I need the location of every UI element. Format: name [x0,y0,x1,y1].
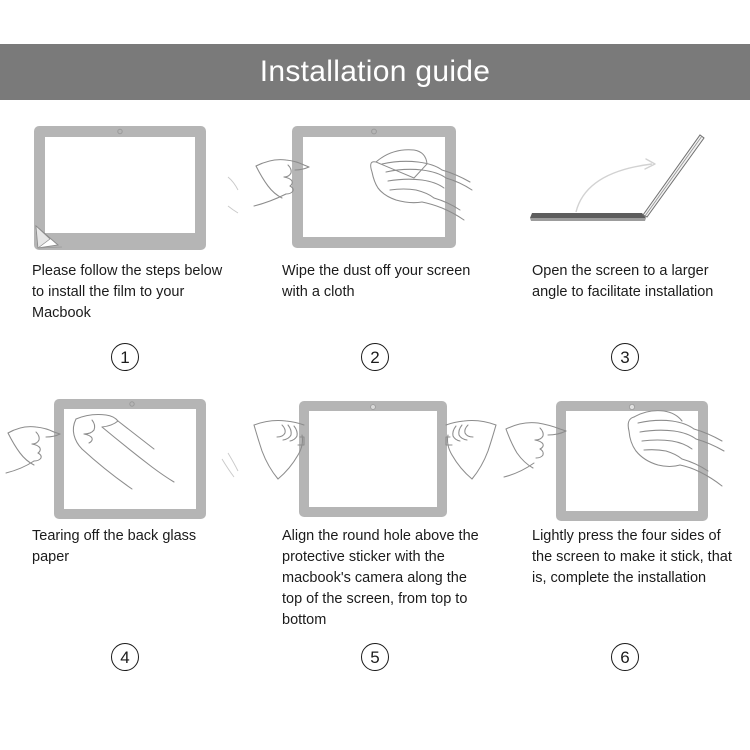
step-2-number-wrap: 2 [264,303,486,385]
steps-row-bottom: Tearing off the back glass paper 4 [0,385,750,685]
step-6-illustration [514,385,736,520]
step-panel-1: Please follow the steps below to install… [0,120,250,385]
step-4-caption: Tearing off the back glass paper [14,526,236,568]
step-number-badge: 1 [111,343,139,371]
step-2-illustration [264,120,486,255]
step-panel-6: Lightly press the four sides of the scre… [500,385,750,685]
page-title: Installation guide [260,57,491,87]
step-number-badge: 3 [611,343,639,371]
header-band: Installation guide [0,44,750,100]
step-3-caption: Open the screen to a larger angle to fac… [514,261,736,303]
step-6-number-wrap: 6 [514,589,736,685]
step-2-caption: Wipe the dust off your screen with a clo… [264,261,486,303]
step-4-illustration [14,385,236,520]
step-panel-2: Wipe the dust off your screen with a clo… [250,120,500,385]
step-1-illustration [14,120,236,255]
steps-row-top: Please follow the steps below to install… [0,120,750,385]
step-panel-3: Open the screen to a larger angle to fac… [500,120,750,385]
step-3-number-wrap: 3 [514,303,736,385]
step-1-caption: Please follow the steps below to install… [14,261,236,324]
step-3-illustration [514,120,736,255]
step-number-badge: 4 [111,643,139,671]
step-4-number-wrap: 4 [14,568,236,685]
step-panel-5: Align the round hole above the protectiv… [250,385,500,685]
step-5-caption: Align the round hole above the protectiv… [264,526,486,631]
steps-grid: Please follow the steps below to install… [0,120,750,685]
step-5-illustration [264,385,486,520]
installation-guide-page: Installation guide [0,0,750,750]
step-number-badge: 5 [361,643,389,671]
step-panel-4: Tearing off the back glass paper 4 [0,385,250,685]
step-1-number-wrap: 1 [14,324,236,385]
step-5-number-wrap: 5 [264,631,486,685]
step-6-caption: Lightly press the four sides of the scre… [514,526,736,589]
step-number-badge: 6 [611,643,639,671]
step-number-badge: 2 [361,343,389,371]
